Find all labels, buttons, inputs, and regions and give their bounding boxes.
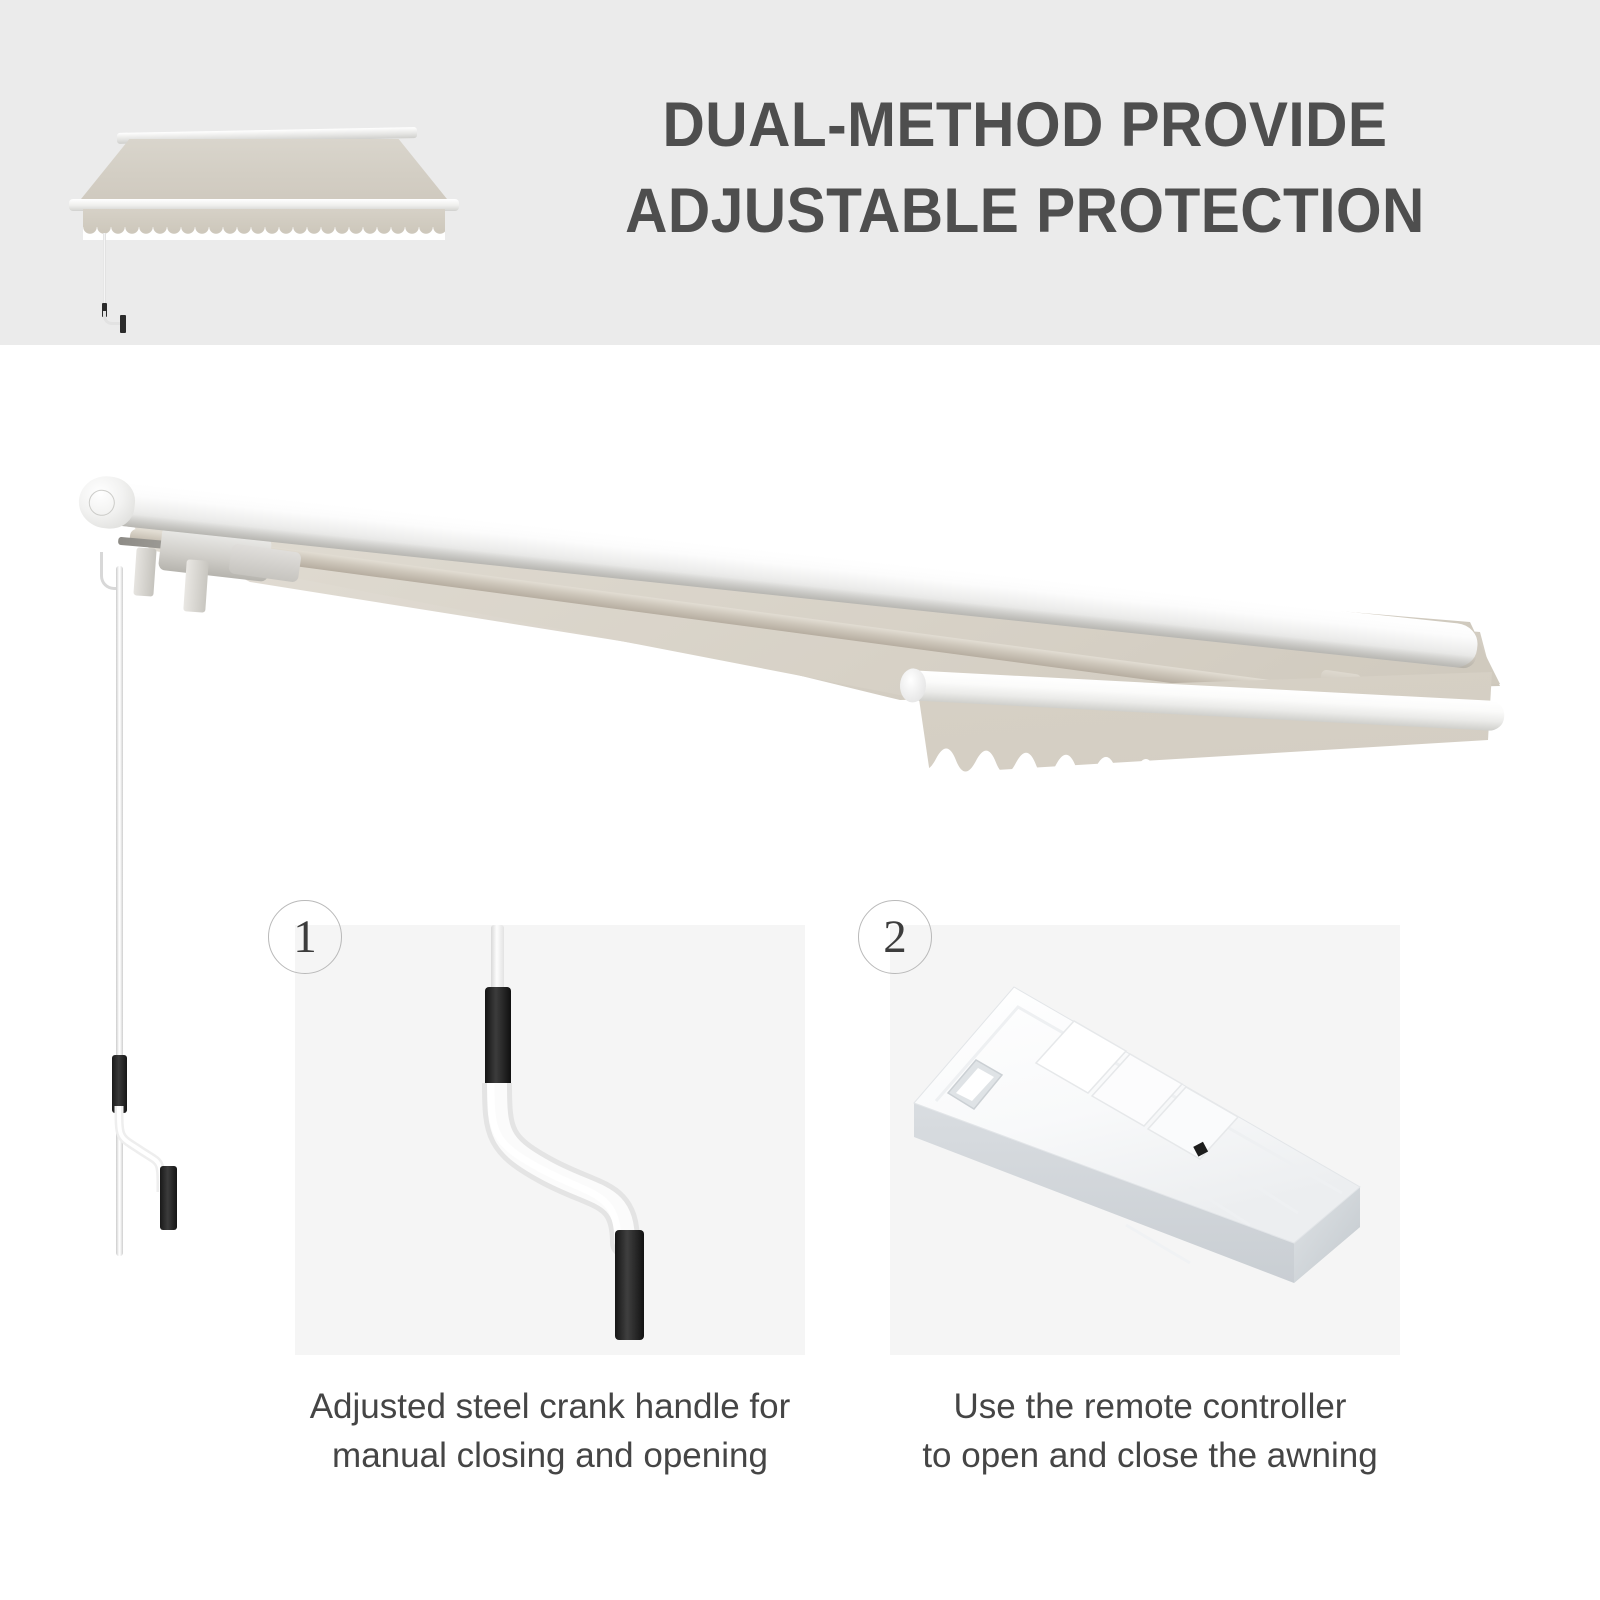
crank-handle-lower-grip [615,1230,644,1340]
feature-caption-2: Use the remote controller to open and cl… [830,1382,1470,1480]
feature-caption-1-line-2: manual closing and opening [230,1431,870,1480]
feature-panel-crank-handle [295,925,805,1355]
headline: DUAL-METHOD PROVIDE ADJUSTABLE PROTECTIO… [509,82,1541,254]
front-bar-end-cap [899,668,927,703]
thumbnail-scalloped-edge [83,227,445,240]
awning-crank-lower-grip [160,1166,177,1230]
crank-handle-s-bend [475,1083,675,1263]
cassette-end-cap-ring [88,488,117,517]
awning-thumbnail-image [65,115,445,290]
awning-crank-upper-grip [112,1055,127,1113]
feature-caption-2-line-2: to open and close the awning [830,1431,1470,1480]
remote-controller-image [890,925,1400,1355]
thumbnail-canopy [77,139,451,204]
thumbnail-crank-tip [120,315,126,333]
crank-handle-shaft [491,925,504,991]
feature-caption-1: Adjusted steel crank handle for manual c… [230,1382,870,1480]
thumbnail-crank-rod [103,233,106,311]
headline-line-2: ADJUSTABLE PROTECTION [509,168,1541,254]
feature-badge-1: 1 [268,900,342,974]
awning-wall-bracket-left [133,547,156,596]
feature-badge-2: 2 [858,900,932,974]
headline-line-1: DUAL-METHOD PROVIDE [509,82,1541,168]
feature-caption-1-line-1: Adjusted steel crank handle for [230,1382,870,1431]
awning-wall-bracket-right [183,559,209,612]
feature-panel-remote-controller [890,925,1400,1355]
header-band: DUAL-METHOD PROVIDE ADJUSTABLE PROTECTIO… [0,0,1600,345]
crank-handle-upper-grip [485,987,511,1091]
feature-caption-2-line-1: Use the remote controller [830,1382,1470,1431]
